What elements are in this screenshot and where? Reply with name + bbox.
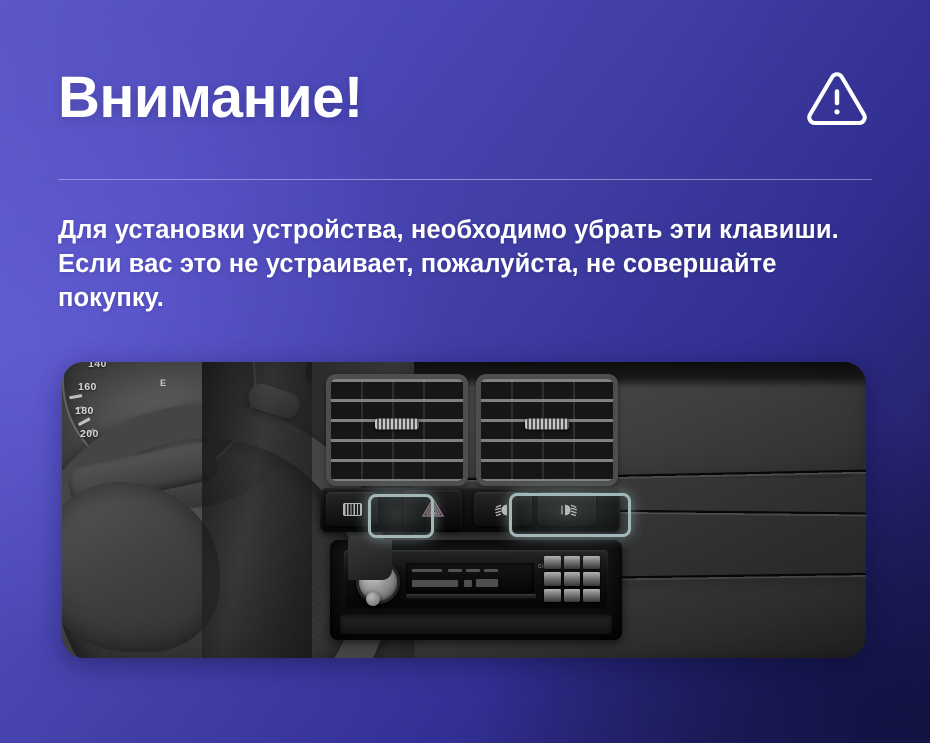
preset-button[interactable] — [544, 572, 561, 585]
vent-adjuster-right[interactable] — [525, 418, 569, 429]
preset-button[interactable] — [583, 572, 600, 585]
speed-mark-180: 180 — [75, 405, 94, 417]
header-divider — [58, 179, 872, 180]
radio-display — [406, 563, 534, 593]
defroster-highlight-box — [368, 494, 434, 538]
steering-column-shroud — [202, 362, 312, 658]
speed-mark-160: 160 — [78, 381, 97, 393]
preset-button[interactable] — [583, 556, 600, 569]
cd-slot[interactable] — [406, 594, 536, 599]
vent-slats-right — [481, 379, 613, 481]
fog-lights-highlight-box — [509, 493, 631, 537]
preset-button[interactable] — [544, 556, 561, 569]
fuel-gauge-label: E — [160, 378, 166, 388]
preset-button[interactable] — [583, 589, 600, 602]
air-vents-group — [324, 370, 616, 482]
radio-preset-buttons[interactable] — [544, 556, 600, 602]
preset-button[interactable] — [564, 572, 581, 585]
secondary-knob[interactable] — [366, 592, 380, 606]
air-vent-left — [326, 374, 468, 486]
preset-button[interactable] — [544, 589, 561, 602]
preset-button[interactable] — [564, 589, 581, 602]
preset-button[interactable] — [564, 556, 581, 569]
header: Внимание! — [58, 52, 872, 144]
photo-inner: km/h 140 160 180 200 E C — [62, 362, 866, 658]
page-title: Внимание! — [58, 69, 363, 127]
vent-slats-left — [331, 379, 463, 481]
speed-mark-140: 140 — [88, 362, 107, 370]
warning-triangle-icon — [806, 67, 868, 129]
air-vent-right — [476, 374, 618, 486]
vent-adjuster-left[interactable] — [375, 418, 419, 429]
warning-banner-page: Внимание! Для установки устройства, необ… — [0, 0, 930, 743]
car-dashboard-photo: km/h 140 160 180 200 E C — [62, 362, 866, 658]
warning-text: Для установки устройства, необходимо убр… — [58, 213, 858, 315]
console-shelf — [340, 614, 612, 634]
